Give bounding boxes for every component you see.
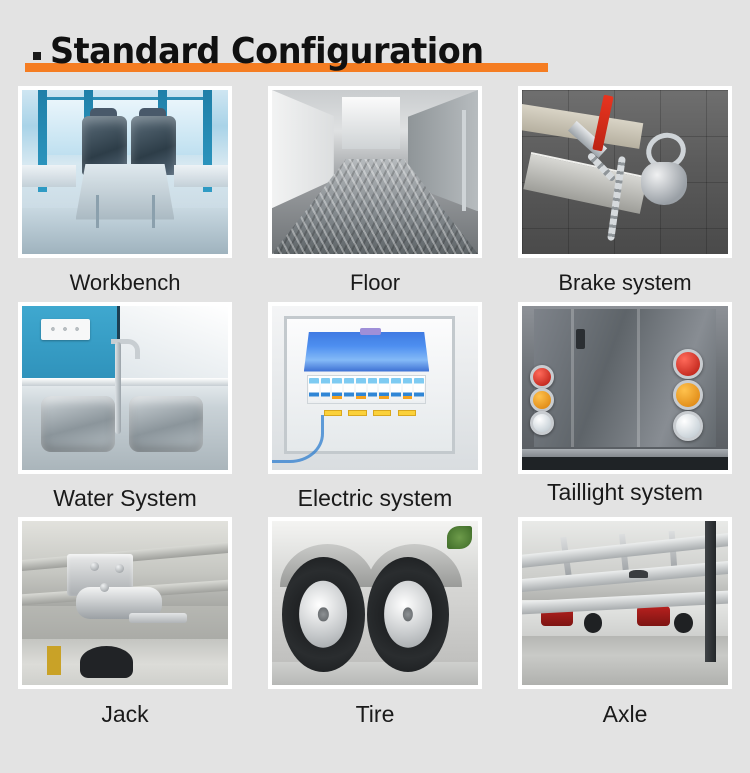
gallery-item-workbench[interactable]: Workbench xyxy=(0,86,250,296)
photo-frame xyxy=(18,302,232,474)
gallery-item-water-system[interactable]: Water System xyxy=(0,302,250,511)
photo-frame xyxy=(18,86,232,258)
photo-frame xyxy=(518,302,732,474)
page-title: Standard Configuration xyxy=(50,32,484,72)
axle-photo xyxy=(522,521,728,685)
square-bullet-icon xyxy=(33,52,41,60)
gallery-item-brake-system[interactable]: Brake system xyxy=(500,86,750,296)
gallery-row: Workbench Floor xyxy=(0,86,750,296)
gallery-item-caption: Axle xyxy=(603,701,648,727)
electric-system-photo xyxy=(272,306,478,470)
photo-frame xyxy=(268,302,482,474)
gallery-item-jack[interactable]: Jack xyxy=(0,517,250,727)
gallery-item-taillight-system[interactable]: Taillight system xyxy=(500,302,750,511)
workbench-photo xyxy=(22,90,228,254)
page-title-block: Standard Configuration xyxy=(25,32,516,78)
taillight-system-photo xyxy=(522,306,728,470)
photo-frame xyxy=(268,517,482,689)
photo-frame xyxy=(268,86,482,258)
gallery-item-caption: Brake system xyxy=(558,270,691,296)
photo-frame xyxy=(518,86,732,258)
photo-frame xyxy=(518,517,732,689)
gallery-item-tire[interactable]: Tire xyxy=(250,517,500,727)
tire-photo xyxy=(272,521,478,685)
gallery-row: Water System xyxy=(0,302,750,511)
photo-frame xyxy=(18,517,232,689)
brake-system-photo xyxy=(522,90,728,254)
configuration-gallery: Workbench Floor xyxy=(0,86,750,727)
gallery-item-caption: Jack xyxy=(101,701,148,727)
floor-photo xyxy=(272,90,478,254)
gallery-item-caption: Water System xyxy=(53,485,197,511)
gallery-item-caption: Taillight system xyxy=(547,479,703,505)
gallery-item-electric-system[interactable]: Electric system xyxy=(250,302,500,511)
gallery-item-caption: Workbench xyxy=(70,270,181,296)
gallery-item-caption: Tire xyxy=(356,701,395,727)
gallery-item-floor[interactable]: Floor xyxy=(250,86,500,296)
gallery-item-caption: Floor xyxy=(350,270,400,296)
gallery-item-caption: Electric system xyxy=(298,485,453,511)
gallery-item-axle[interactable]: Axle xyxy=(500,517,750,727)
gallery-row: Jack Tire xyxy=(0,517,750,727)
jack-photo xyxy=(22,521,228,685)
water-system-photo xyxy=(22,306,228,470)
